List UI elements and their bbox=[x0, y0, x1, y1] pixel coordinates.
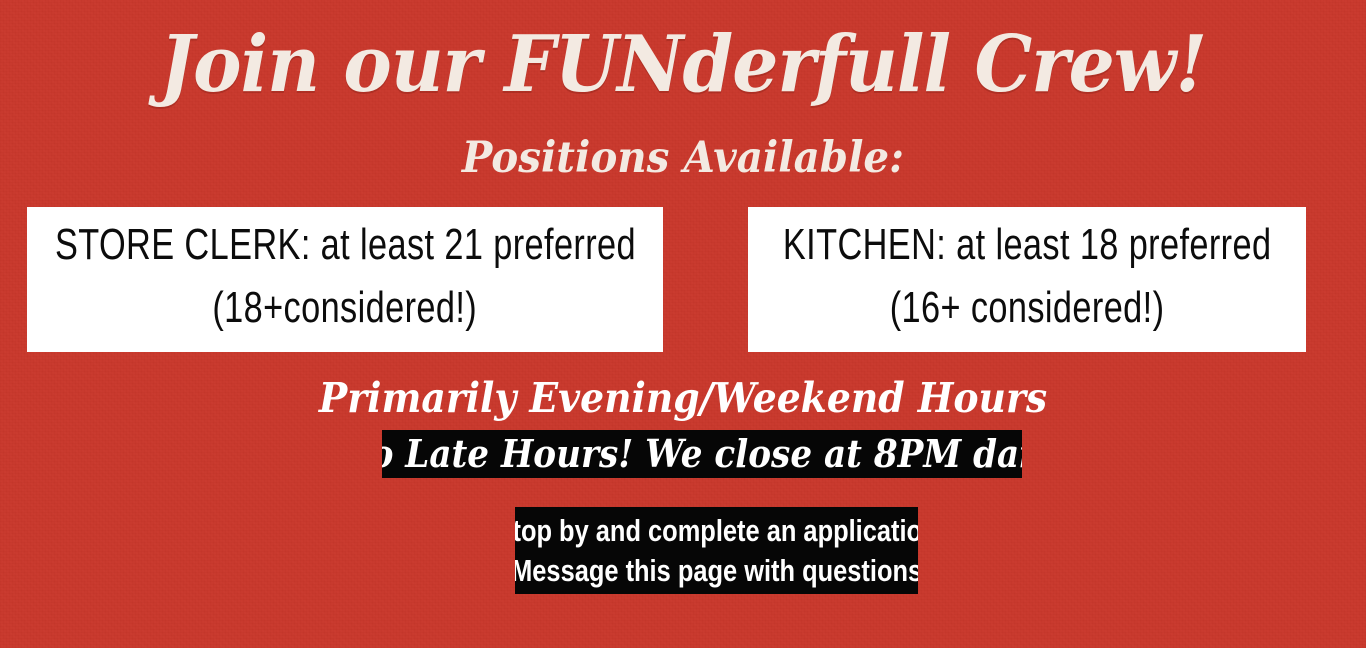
position-card-store-clerk-line2: (18+considered!) bbox=[213, 277, 478, 339]
no-late-hours-banner: No Late Hours! We close at 8PM daily bbox=[382, 430, 1022, 478]
position-card-store-clerk-line1: STORE CLERK: at least 21 preferred bbox=[54, 214, 635, 276]
call-to-action-line2: Message this page with questions bbox=[515, 551, 918, 591]
no-late-hours-text: No Late Hours! We close at 8PM daily bbox=[382, 435, 1022, 473]
hours-line: Primarily Evening/Weekend Hours bbox=[55, 378, 1312, 419]
position-card-kitchen: KITCHEN: at least 18 preferred (16+ cons… bbox=[748, 207, 1306, 352]
position-card-store-clerk: STORE CLERK: at least 21 preferred (18+c… bbox=[27, 207, 663, 352]
headline: Join our FUNderfull Crew! bbox=[48, 26, 1318, 104]
call-to-action-box: Stop by and complete an application Mess… bbox=[515, 507, 918, 594]
call-to-action-line1: Stop by and complete an application bbox=[515, 511, 918, 551]
hiring-flyer: Join our FUNderfull Crew! Positions Avai… bbox=[0, 0, 1366, 648]
subheadline: Positions Available: bbox=[41, 137, 1325, 180]
position-card-kitchen-line1: KITCHEN: at least 18 preferred bbox=[783, 214, 1272, 276]
position-card-kitchen-line2: (16+ considered!) bbox=[890, 277, 1165, 339]
